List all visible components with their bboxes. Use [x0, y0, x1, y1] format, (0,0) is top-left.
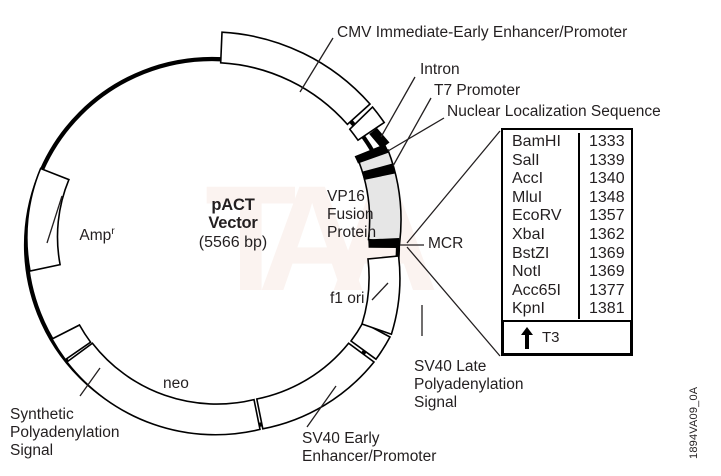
vector-name-line2: Vector [168, 214, 298, 232]
label-vp16-line1: VP16 [327, 188, 365, 206]
label-f1-ori: f1 ori [330, 290, 364, 308]
vector-title-block: pACT Vector (5566 bp) [168, 196, 298, 253]
leader-nls [388, 118, 444, 151]
restriction-site-position: 1377 [580, 282, 625, 301]
label-intron: Intron [420, 61, 460, 79]
restriction-enzyme-name: BamHI [503, 133, 580, 152]
restriction-site-position: 1333 [580, 133, 625, 152]
restriction-enzyme-name: Acc65I [503, 282, 580, 301]
label-sv40-early-line2: Enhancer/Promoter [302, 448, 436, 466]
feature-arc-cmv [221, 32, 370, 124]
label-sv40-late-line2: Polyadenylation [414, 376, 523, 394]
label-cmv: CMV Immediate-Early Enhancer/Promoter [337, 24, 627, 42]
label-vp16-line3: Protein [327, 224, 376, 242]
restriction-site-row: SalI1339 [503, 152, 631, 171]
restriction-enzyme-name: BstZI [503, 245, 580, 264]
restriction-site-table: BamHI1333SalI1339AccI1340MluI1348EcoRV13… [501, 128, 633, 324]
restriction-site-row: NotI1369 [503, 263, 631, 282]
restriction-enzyme-name: AccI [503, 170, 580, 189]
vector-name-line1: pACT [168, 196, 298, 214]
leader-intron [381, 77, 415, 137]
vector-size: (5566 bp) [168, 233, 298, 253]
label-synthetic-line1: Synthetic [10, 406, 74, 424]
restriction-site-position: 1369 [580, 263, 625, 282]
restriction-site-rows: BamHI1333SalI1339AccI1340MluI1348EcoRV13… [503, 130, 631, 322]
restriction-site-row: MluI1348 [503, 189, 631, 208]
label-amp-text: Amp [79, 227, 111, 244]
restriction-site-position: 1381 [580, 300, 625, 319]
up-arrow-icon [521, 327, 533, 349]
label-sv40-late-line3: Signal [414, 394, 457, 412]
restriction-site-row: EcoRV1357 [503, 207, 631, 226]
t3-promoter-box: T3 [501, 320, 633, 356]
plasmid-map-figure: T A A [0, 0, 721, 476]
restriction-site-position: 1348 [580, 189, 625, 208]
label-amp: Ampr [63, 205, 115, 262]
label-amp-superscript: r [111, 225, 115, 237]
restriction-site-position: 1340 [580, 170, 625, 189]
restriction-site-row: Acc65I1377 [503, 282, 631, 301]
label-nls: Nuclear Localization Sequence [447, 103, 661, 121]
t3-promoter-label: T3 [542, 329, 560, 346]
label-t7-promoter: T7 Promoter [434, 82, 520, 100]
label-synthetic-line3: Signal [10, 442, 53, 460]
label-sv40-late-line1: SV40 Late [414, 358, 486, 376]
label-synthetic-line2: Polyadenylation [10, 424, 119, 442]
restriction-site-row: BstZI1369 [503, 245, 631, 264]
restriction-enzyme-name: SalI [503, 152, 580, 171]
restriction-enzyme-name: KpnI [503, 300, 580, 319]
restriction-site-row: AccI1340 [503, 170, 631, 189]
restriction-site-position: 1362 [580, 226, 625, 245]
restriction-enzyme-name: EcoRV [503, 207, 580, 226]
restriction-enzyme-name: NotI [503, 263, 580, 282]
restriction-site-row: BamHI1333 [503, 133, 631, 152]
label-vp16-line2: Fusion [327, 206, 374, 224]
label-mcr: MCR [428, 235, 463, 253]
restriction-enzyme-name: MluI [503, 189, 580, 208]
label-sv40-early-line1: SV40 Early [302, 430, 380, 448]
restriction-site-row: XbaI1362 [503, 226, 631, 245]
restriction-enzyme-name: XbaI [503, 226, 580, 245]
restriction-site-position: 1369 [580, 245, 625, 264]
figure-code: 1894VA09_0A [688, 387, 700, 459]
restriction-site-position: 1339 [580, 152, 625, 171]
restriction-site-position: 1357 [580, 207, 625, 226]
restriction-site-row: KpnI1381 [503, 300, 631, 319]
label-neo: neo [163, 375, 189, 393]
